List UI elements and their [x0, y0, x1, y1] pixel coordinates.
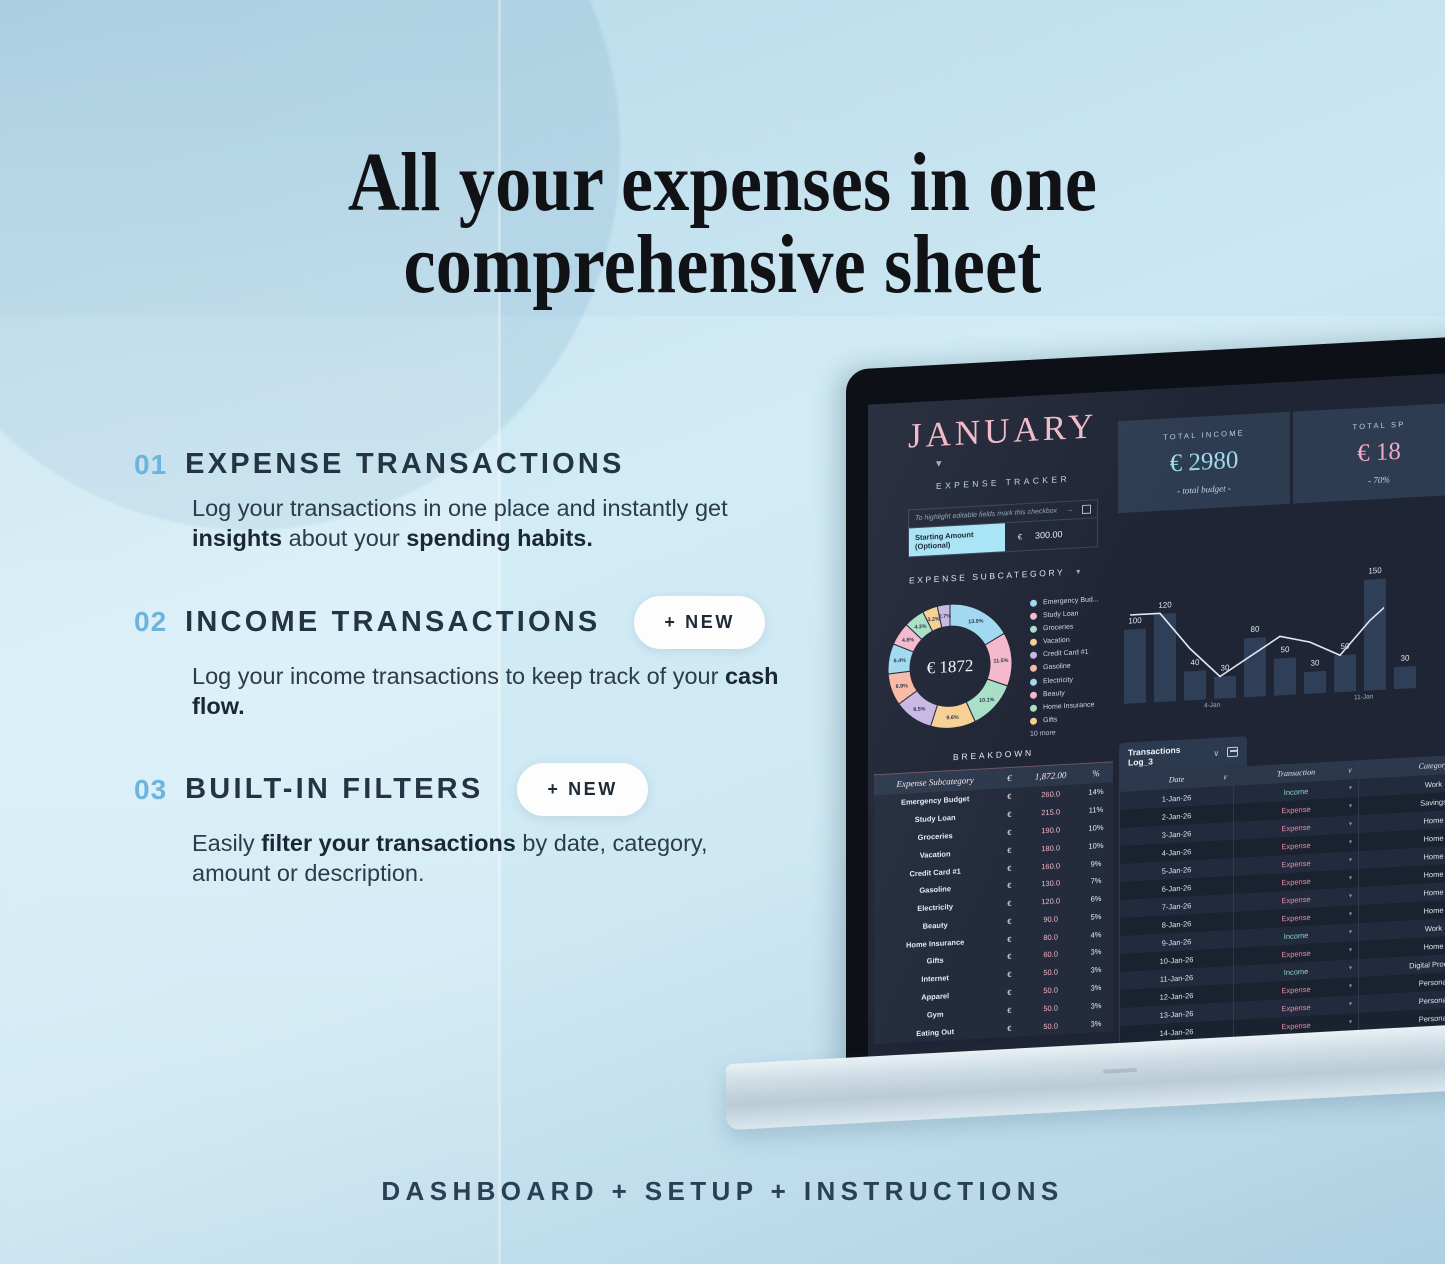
dropdown-chevron-down-icon[interactable]: ▾: [1349, 1018, 1352, 1025]
log-transaction-value: Expense: [1281, 822, 1310, 833]
breakdown-cell-pct: 3%: [1079, 978, 1113, 998]
legend-item: Gasoline: [1030, 662, 1099, 673]
feature-heading-3: 03 BUILT-IN FILTERS + NEW: [134, 763, 854, 816]
log-category-value: Personal: [1419, 1013, 1445, 1024]
svg-text:6.4%: 6.4%: [894, 658, 906, 665]
page-title: All your expenses in one comprehensive s…: [101, 142, 1344, 307]
breakdown-cell-eur: €: [996, 965, 1022, 984]
dropdown-chevron-down-icon[interactable]: ▾: [1349, 982, 1352, 989]
breakdown-cell-pct: 3%: [1079, 960, 1113, 980]
breakdown-cell-pct: 14%: [1079, 782, 1113, 802]
dropdown-chevron-down-icon[interactable]: ▾: [1349, 820, 1352, 827]
legend-item-label: Credit Card #1: [1043, 649, 1089, 658]
log-table-body: 1-Jan-26Income▾Work▾2-Jan-26Expense▾Savi…: [1120, 771, 1445, 1044]
svg-text:11.5%: 11.5%: [993, 658, 1008, 665]
log-category-value: Work: [1425, 923, 1442, 933]
kpi-cards: TOTAL INCOME € 2980 - total budget - TOT…: [1118, 402, 1445, 546]
legend-color-dot: [1030, 678, 1037, 685]
copy-icon[interactable]: [1227, 747, 1238, 758]
dropdown-chevron-down-icon[interactable]: ▾: [1349, 910, 1352, 917]
log-category-value: Savings: [1420, 797, 1445, 807]
dropdown-chevron-down-icon[interactable]: ▾: [1349, 946, 1352, 953]
feature-body-bold-3a: filter your transactions: [261, 830, 516, 856]
headline-line-1: All your expenses in one: [348, 136, 1097, 229]
new-badge-2: + NEW: [634, 596, 765, 649]
breakdown-cell-amt: 50.0: [1022, 1015, 1079, 1036]
column-filter-chevron-down-icon[interactable]: ∨: [1347, 766, 1352, 774]
breakdown-cell-eur: €: [996, 805, 1022, 824]
feature-item-2: 02 INCOME TRANSACTIONS + NEW Log your in…: [134, 596, 854, 722]
log-transaction-value: Expense: [1281, 984, 1310, 995]
legend-color-dot: [1030, 704, 1037, 711]
legend-item: Study Loan: [1030, 609, 1099, 620]
breakdown-table: Expense Subcategory€1,872.00% Emergency …: [874, 761, 1113, 1044]
breakdown-cell-eur: €: [996, 894, 1022, 913]
log-column-header-label: Transaction: [1277, 767, 1315, 778]
legend-item: Beauty: [1030, 688, 1099, 699]
legend-color-dot: [1030, 626, 1037, 633]
log-category-value: Digital Product: [1409, 958, 1445, 970]
svg-text:8.5%: 8.5%: [913, 706, 925, 713]
donut-legend: Emergency Bud...Study LoanGroceriesVacat…: [1030, 596, 1099, 738]
breakdown-cell-eur: €: [996, 858, 1022, 877]
legend-item-label: Study Loan: [1043, 610, 1078, 619]
breakdown-cell-eur: €: [996, 1001, 1022, 1020]
feature-body-bold-1b: spending habits.: [406, 525, 593, 551]
transactions-log-tab-label: Transactions Log_3: [1128, 743, 1205, 767]
dropdown-chevron-down-icon[interactable]: ▾: [1349, 1000, 1352, 1007]
svg-text:13.9%: 13.9%: [968, 618, 983, 625]
legend-item: Gifts: [1030, 714, 1099, 725]
feature-heading-1: 01 EXPENSE TRANSACTIONS: [134, 448, 854, 481]
legend-item: Groceries: [1030, 622, 1099, 633]
highlight-settings-box: To highlight editable fields mark this c…: [908, 499, 1098, 557]
laptop-screen: JANUARY ▾ EXPENSE TRACKER To highlight e…: [868, 370, 1445, 1077]
legend-item: Electricity: [1030, 675, 1099, 686]
legend-item: Emergency Bud...: [1030, 596, 1099, 607]
trend-line-overlay: [1124, 562, 1384, 704]
feature-number-2: 02: [134, 606, 167, 638]
log-transaction-value: Expense: [1281, 894, 1310, 905]
breakdown-column-header: %: [1079, 762, 1113, 784]
log-category-value: Home: [1424, 833, 1444, 843]
legend-color-dot: [1030, 691, 1037, 698]
legend-item-label: Emergency Bud...: [1043, 596, 1099, 606]
x-axis-tick-label: 4-Jan: [1204, 702, 1220, 710]
kpi-value-total-spent: € 18: [1357, 438, 1401, 468]
breakdown-cell-eur: €: [996, 787, 1022, 806]
tab-chevron-down-icon[interactable]: ∨: [1213, 748, 1219, 757]
breakdown-cell-pct: 7%: [1079, 871, 1113, 891]
feature-heading-2: 02 INCOME TRANSACTIONS + NEW: [134, 596, 854, 649]
kpi-sub-total-spent: - 70%: [1368, 474, 1390, 485]
dashboard-subtitle: EXPENSE TRACKER: [936, 471, 1118, 491]
log-category-value: Home: [1424, 851, 1444, 861]
breakdown-cell-eur: €: [996, 912, 1022, 931]
log-transaction-value: Expense: [1281, 1002, 1310, 1013]
log-category-value: Home: [1424, 887, 1444, 897]
month-title: JANUARY: [908, 406, 1097, 455]
x-axis-tick-label: 11-Jan: [1354, 693, 1373, 701]
log-transaction-value: Income: [1284, 930, 1309, 940]
svg-text:6.9%: 6.9%: [896, 683, 908, 690]
breakdown-cell-pct: 6%: [1079, 889, 1113, 909]
donut-chevron-down-icon[interactable]: ▾: [1076, 566, 1083, 576]
legend-color-dot: [1030, 717, 1037, 724]
breakdown-cell-eur: €: [996, 947, 1022, 966]
feature-body-2: Log your income transactions to keep tra…: [192, 662, 792, 722]
feature-list: 01 EXPENSE TRANSACTIONS Log your transac…: [134, 448, 854, 931]
charts-row: EXPENSE SUBCATEGORY ▾ 13.9%11.5%10.1%9.6…: [868, 533, 1445, 747]
dropdown-chevron-down-icon[interactable]: ▾: [1349, 784, 1352, 791]
legend-item-label: Gifts: [1043, 716, 1057, 724]
transactions-log-table: Date∨Transaction∨Category∨ 1-Jan-26Incom…: [1119, 752, 1445, 1044]
breakdown-cell-pct: 10%: [1079, 836, 1113, 856]
legend-item-label: Groceries: [1043, 624, 1073, 633]
log-transaction-value: Income: [1284, 966, 1309, 976]
feature-item-1: 01 EXPENSE TRANSACTIONS Log your transac…: [134, 448, 854, 554]
breakdown-cell-pct: 3%: [1079, 996, 1113, 1016]
legend-item-label: Gasoline: [1043, 663, 1071, 671]
dropdown-chevron-down-icon[interactable]: ▾: [1349, 892, 1352, 899]
breakdown-cell-eur: €: [996, 983, 1022, 1002]
log-transaction-value: Expense: [1281, 948, 1310, 959]
month-title-row: JANUARY ▾: [908, 405, 1118, 474]
new-badge-3: + NEW: [517, 763, 648, 816]
breakdown-cell-eur: €: [996, 1018, 1022, 1037]
legend-color-dot: [1030, 600, 1037, 607]
log-category-value: Home: [1424, 869, 1444, 879]
legend-item-label: Home Insurance: [1043, 701, 1094, 711]
log-category-value: Home: [1424, 941, 1444, 951]
chevron-down-icon[interactable]: ▾: [936, 457, 942, 470]
month-column: JANUARY ▾ EXPENSE TRACKER To highlight e…: [868, 405, 1118, 560]
highlight-note-text: To highlight editable fields mark this c…: [915, 507, 1057, 522]
log-transaction-value: Expense: [1281, 858, 1310, 869]
legend-item: Home Insurance: [1030, 701, 1099, 712]
feature-title-2: INCOME TRANSACTIONS: [185, 606, 600, 639]
breakdown-cell-eur: €: [996, 823, 1022, 842]
legend-item-label: Beauty: [1043, 690, 1065, 698]
log-column-header-label: Category: [1419, 760, 1445, 771]
feature-body-text-1a: Log your transactions in one place and i…: [192, 495, 728, 521]
feature-title-3: BUILT-IN FILTERS: [185, 773, 483, 806]
svg-text:10.1%: 10.1%: [979, 697, 994, 704]
svg-text:9.6%: 9.6%: [946, 715, 958, 722]
donut-chart-panel: EXPENSE SUBCATEGORY ▾ 13.9%11.5%10.1%9.6…: [868, 554, 1118, 747]
legend-item: Vacation: [1030, 635, 1099, 646]
laptop-lid: JANUARY ▾ EXPENSE TRACKER To highlight e…: [846, 334, 1445, 1092]
legend-item-label: Vacation: [1043, 637, 1070, 645]
dropdown-chevron-down-icon[interactable]: ▾: [1349, 928, 1352, 935]
feature-body-text-2a: Log your income transactions to keep tra…: [192, 663, 725, 689]
legend-item: Credit Card #1: [1030, 649, 1099, 660]
log-category-value: Personal: [1419, 995, 1445, 1006]
breakdown-cell-pct: 4%: [1079, 925, 1113, 945]
feature-body-bold-1a: insights: [192, 525, 282, 551]
log-category-value: Work: [1425, 779, 1442, 789]
breakdown-cell-pct: 5%: [1079, 907, 1113, 927]
legend-more-label[interactable]: 10 more: [1030, 727, 1099, 738]
log-transaction-value: Expense: [1281, 876, 1310, 887]
svg-text:4.3%: 4.3%: [914, 624, 926, 631]
log-transaction-value: Expense: [1281, 840, 1310, 851]
breakdown-cell-pct: 9%: [1079, 854, 1113, 874]
svg-text:4.8%: 4.8%: [902, 637, 914, 644]
dropdown-chevron-down-icon[interactable]: ▾: [1349, 964, 1352, 971]
breakdown-cell-pct: 3%: [1079, 942, 1113, 962]
donut-title-label: EXPENSE SUBCATEGORY: [909, 567, 1065, 585]
feature-number-3: 03: [134, 774, 167, 806]
log-column-header-label: Date: [1169, 775, 1185, 785]
transactions-log-panel: Transactions Log_3 ∨ Date∨Transaction∨Ca…: [1119, 722, 1445, 1044]
highlight-checkbox[interactable]: [1082, 505, 1091, 514]
bar-chart-panel: 10012040308050305015030 4-Jan11-Jan: [1118, 533, 1445, 733]
breakdown-table-body: Emergency Budget€260.014%Study Loan€215.…: [874, 782, 1113, 1044]
laptop-mockup: JANUARY ▾ EXPENSE TRACKER To highlight e…: [846, 352, 1445, 1112]
log-transaction-value: Expense: [1281, 912, 1310, 923]
breakdown-cell-eur: €: [996, 841, 1022, 860]
log-category-value: Personal: [1419, 977, 1445, 988]
starting-amount-input[interactable]: 300.00: [1035, 529, 1063, 540]
legend-color-dot: [1030, 652, 1037, 659]
kpi-card-total-income: TOTAL INCOME € 2980 - total budget -: [1118, 412, 1290, 513]
starting-amount-label: Starting Amount (Optional): [909, 523, 1005, 556]
breakdown-cell-eur: €: [996, 876, 1022, 895]
feature-body-text-3a: Easily: [192, 830, 261, 856]
svg-text:2.7%: 2.7%: [939, 613, 951, 620]
log-transaction-value: Income: [1284, 786, 1309, 796]
starting-amount-currency: €: [1005, 531, 1035, 542]
breakdown-panel: BREAKDOWN Expense Subcategory€1,872.00% …: [868, 743, 1113, 1057]
bar: 30: [1394, 666, 1416, 689]
kpi-value-total-income: € 2980: [1170, 447, 1239, 479]
donut-chart: 13.9%11.5%10.1%9.6%8.5%6.9%6.4%4.8%4.3%3…: [874, 586, 1026, 746]
log-category-value: Home: [1424, 905, 1444, 915]
breakdown-cell-pct: 11%: [1079, 800, 1113, 820]
feature-item-3: 03 BUILT-IN FILTERS + NEW Easily filter …: [134, 763, 854, 889]
kpi-card-total-spent: TOTAL SP € 18 - 70%: [1293, 402, 1445, 503]
feature-body-1: Log your transactions in one place and i…: [192, 494, 792, 554]
dashboard-header: JANUARY ▾ EXPENSE TRACKER To highlight e…: [868, 370, 1445, 560]
column-filter-chevron-down-icon[interactable]: ∨: [1222, 773, 1227, 781]
feature-number-1: 01: [134, 449, 167, 481]
footer-caption: DASHBOARD + SETUP + INSTRUCTIONS: [0, 1176, 1445, 1207]
log-category-value: Home: [1424, 815, 1444, 825]
bar-value-label: 30: [1401, 653, 1410, 662]
dropdown-chevron-down-icon[interactable]: ▾: [1349, 838, 1352, 845]
expense-dashboard: JANUARY ▾ EXPENSE TRACKER To highlight e…: [868, 370, 1445, 1077]
feature-body-3: Easily filter your transactions by date,…: [192, 829, 792, 889]
donut-with-legend: 13.9%11.5%10.1%9.6%8.5%6.9%6.4%4.8%4.3%3…: [874, 581, 1118, 746]
legend-color-dot: [1030, 613, 1037, 620]
breakdown-column-header: €: [996, 767, 1022, 789]
feature-body-text-1b: about your: [282, 525, 406, 551]
dropdown-chevron-down-icon[interactable]: ▾: [1349, 802, 1352, 809]
tables-row: BREAKDOWN Expense Subcategory€1,872.00% …: [868, 722, 1445, 1058]
kpi-label-total-spent: TOTAL SP: [1353, 420, 1406, 432]
dropdown-chevron-down-icon[interactable]: ▾: [1349, 856, 1352, 863]
dropdown-chevron-down-icon[interactable]: ▾: [1349, 874, 1352, 881]
log-transaction-value: Expense: [1281, 1020, 1310, 1031]
svg-text:€ 1872: € 1872: [927, 656, 974, 678]
arrow-right-icon: →: [1066, 507, 1073, 514]
kpi-sub-total-income: - total budget -: [1177, 483, 1231, 496]
feature-title-1: EXPENSE TRANSACTIONS: [185, 448, 624, 481]
legend-color-dot: [1030, 639, 1037, 646]
breakdown-cell-eur: €: [996, 930, 1022, 949]
headline-line-2: comprehensive sheet: [101, 224, 1344, 306]
legend-item-label: Electricity: [1043, 676, 1073, 685]
log-transaction-value: Expense: [1281, 804, 1310, 815]
breakdown-cell-pct: 3%: [1079, 1014, 1113, 1034]
legend-color-dot: [1030, 665, 1037, 672]
kpi-label-total-income: TOTAL INCOME: [1163, 428, 1245, 441]
breakdown-cell-pct: 10%: [1079, 818, 1113, 838]
